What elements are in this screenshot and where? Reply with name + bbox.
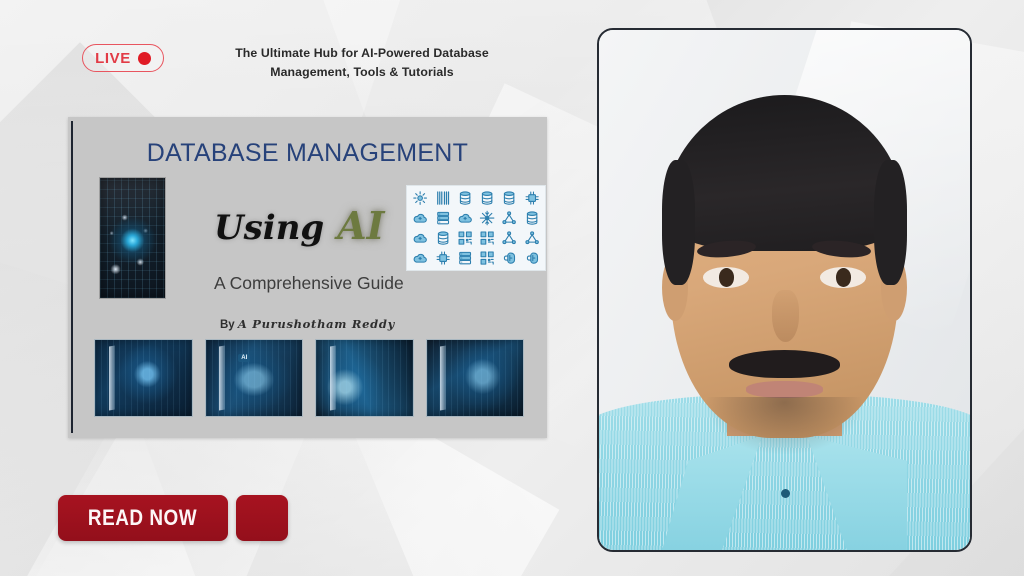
database-stack-icon bbox=[455, 189, 476, 207]
author-photo bbox=[599, 30, 970, 550]
secondary-action-button[interactable] bbox=[236, 495, 288, 541]
byline-prefix: By bbox=[220, 319, 235, 331]
qr-code-icon bbox=[455, 229, 476, 247]
book-cover-slide: DATABASE MANAGEMENT Using AI A Comprehen… bbox=[68, 117, 547, 438]
script-primary-word: Using bbox=[214, 208, 324, 248]
live-badge[interactable]: LIVE bbox=[82, 44, 164, 72]
barcode-icon bbox=[432, 189, 453, 207]
database-cylinder-icon bbox=[477, 189, 498, 207]
read-now-label: READ NOW bbox=[88, 505, 197, 531]
neural-sphere-icon bbox=[521, 229, 542, 247]
server-rack-icon bbox=[432, 209, 453, 227]
record-dot-icon bbox=[138, 52, 151, 65]
cloud-database-icon bbox=[410, 209, 431, 227]
shared-database-icon bbox=[521, 209, 542, 227]
book-mockup-ai-open: AI bbox=[205, 339, 304, 417]
ai-head-icon bbox=[521, 249, 542, 267]
author-byline: By A Purushotham Reddy bbox=[68, 317, 547, 331]
using-ai-script: Using AI bbox=[214, 203, 384, 248]
header-tagline: The Ultimate Hub for AI-Powered Database… bbox=[216, 44, 508, 83]
gear-network-icon bbox=[410, 189, 431, 207]
book-mockup-database bbox=[94, 339, 193, 417]
database-layers-icon bbox=[499, 189, 520, 207]
slide-subtitle: A Comprehensive Guide bbox=[214, 273, 404, 294]
chip-circuit-icon bbox=[521, 189, 542, 207]
book-mockup-angled bbox=[426, 339, 525, 417]
cloud-sync-icon bbox=[455, 209, 476, 227]
portrait-frame bbox=[597, 28, 972, 552]
author-name: A Purushotham Reddy bbox=[238, 317, 395, 331]
book-thumbnail-row: AI bbox=[94, 339, 524, 417]
database-column-icon bbox=[432, 229, 453, 247]
snowflake-node-icon bbox=[477, 209, 498, 227]
server-stack-icon bbox=[455, 249, 476, 267]
live-badge-label: LIVE bbox=[95, 50, 131, 67]
node-network-icon bbox=[499, 209, 520, 227]
brain-chip-icon bbox=[499, 249, 520, 267]
circuit-dots-icon bbox=[432, 249, 453, 267]
moustache bbox=[729, 350, 840, 378]
cloud-storage-icon bbox=[410, 249, 431, 267]
ai-tag-label: AI bbox=[238, 354, 250, 362]
slide-title: DATABASE MANAGEMENT bbox=[68, 139, 547, 168]
read-now-button[interactable]: READ NOW bbox=[58, 495, 228, 541]
cloud-upload-icon bbox=[410, 229, 431, 247]
network-hub-icon bbox=[499, 229, 520, 247]
book-mockup-pair bbox=[315, 339, 414, 417]
circuit-board-art bbox=[99, 177, 166, 299]
data-matrix-icon bbox=[477, 229, 498, 247]
ai-icon-grid bbox=[406, 185, 546, 271]
slide-stage: LIVE The Ultimate Hub for AI-Powered Dat… bbox=[0, 0, 1024, 576]
data-grid-icon bbox=[477, 249, 498, 267]
script-accent-word: AI bbox=[337, 203, 384, 248]
